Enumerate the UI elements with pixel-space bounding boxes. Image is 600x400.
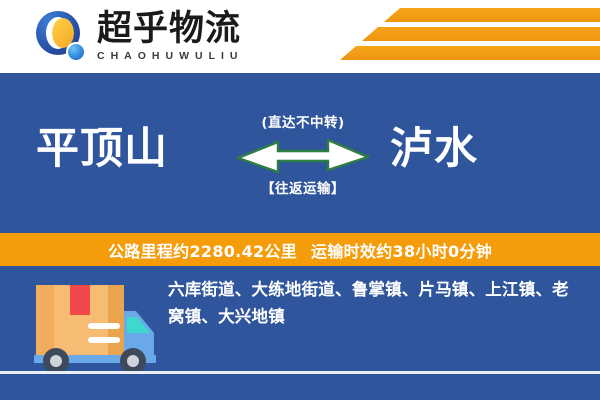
delivery-truck-icon bbox=[30, 277, 162, 375]
brand-name-pinyin: CHAOHUWULIU bbox=[97, 50, 267, 62]
origin-city: 平顶山 bbox=[36, 123, 168, 175]
stripe-2 bbox=[362, 27, 600, 41]
route-info-bar: 公路里程约2280.42公里 运输时效约38小时0分钟 bbox=[0, 231, 600, 268]
distance-text: 公路里程约2280.42公里 bbox=[108, 238, 297, 262]
direct-service-tag: (直达不中转) bbox=[238, 111, 368, 131]
stripe-1 bbox=[384, 8, 600, 22]
destination-city: 泸水 bbox=[390, 123, 478, 175]
circular-q-logo-icon bbox=[36, 11, 88, 63]
logistics-route-banner: 超乎物流 CHAOHUWULIU 平顶山 (直达不中转) 【往返运输】 泸水 公… bbox=[0, 0, 600, 400]
banner-header: 超乎物流 CHAOHUWULIU bbox=[0, 0, 600, 73]
bottom-divider bbox=[0, 371, 600, 374]
stripe-3 bbox=[340, 46, 600, 60]
coverage-areas-text: 六库街道、大练地街道、鲁掌镇、片马镇、上江镇、老窝镇、大兴地镇 bbox=[168, 276, 580, 330]
brand-name-cn: 超乎物流 bbox=[97, 9, 267, 49]
roundtrip-tag: 【往返运输】 bbox=[238, 177, 368, 197]
double-headed-arrow-icon bbox=[236, 136, 370, 176]
header-stripes-decoration bbox=[340, 8, 600, 68]
route-arrow-group: (直达不中转) 【往返运输】 bbox=[238, 111, 368, 201]
duration-text: 运输时效约38小时0分钟 bbox=[311, 238, 492, 262]
brand-block: 超乎物流 CHAOHUWULIU bbox=[97, 9, 267, 62]
logo-dot-icon bbox=[66, 42, 86, 62]
coverage-section: 六库街道、大练地街道、鲁掌镇、片马镇、上江镇、老窝镇、大兴地镇 bbox=[0, 268, 600, 400]
route-section: 平顶山 (直达不中转) 【往返运输】 泸水 bbox=[0, 73, 600, 231]
